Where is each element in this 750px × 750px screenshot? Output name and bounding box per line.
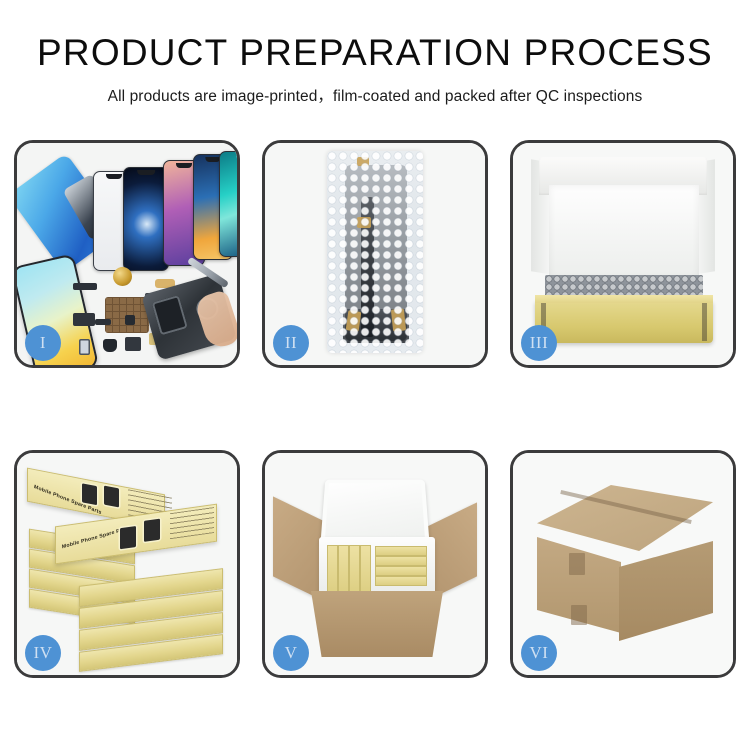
page-title: PRODUCT PREPARATION PROCESS (0, 34, 750, 71)
spare-part (79, 339, 90, 355)
spare-part (73, 313, 95, 326)
box-label-lines (170, 507, 214, 539)
spare-part (73, 283, 97, 290)
spare-part (125, 315, 135, 325)
phone-display-fan (87, 151, 237, 271)
foam-lid (321, 480, 430, 544)
notch-icon (106, 174, 122, 179)
yellow-box-in-carton (375, 556, 427, 566)
yellow-box-in-carton (338, 545, 349, 593)
spare-part (125, 337, 141, 351)
step-panel-6: VI (510, 450, 736, 678)
bubble-wrap-bag (327, 151, 423, 353)
step-panel-1: I (14, 140, 240, 368)
carton-flap-left (273, 496, 325, 601)
yellow-box-in-carton (360, 545, 371, 593)
step-badge-1: I (25, 325, 61, 361)
step-badge-6: VI (521, 635, 557, 671)
notch-icon (137, 170, 155, 175)
yellow-box-in-carton (375, 576, 427, 586)
phone-display-teal (219, 151, 237, 257)
step-badge-2: II (273, 325, 309, 361)
yellow-box-in-carton (375, 546, 427, 556)
product-preparation-infographic: PRODUCT PREPARATION PROCESS All products… (0, 0, 750, 750)
header: PRODUCT PREPARATION PROCESS All products… (0, 0, 750, 106)
yellow-box-in-carton (349, 545, 360, 593)
steps-grid: I II (14, 140, 736, 678)
carton-right-face (619, 541, 713, 641)
bubble-texture (327, 151, 423, 353)
box-label-phone-image (82, 483, 97, 505)
step-panel-4: Mobile Phone Spare Parts Mobile Phone Sp… (14, 450, 240, 678)
step-badge-3: III (521, 325, 557, 361)
box-label-phone-image (104, 486, 119, 508)
step-panel-5: V (262, 450, 488, 678)
yellow-box-base (535, 301, 713, 343)
step-panel-3: III (510, 140, 736, 368)
box-label-phone-image (144, 519, 160, 542)
camera-lens-part (113, 267, 132, 286)
step-badge-4: IV (25, 635, 61, 671)
notch-icon (176, 163, 192, 168)
page-subtitle: All products are image-printed，film-coat… (0, 84, 750, 106)
spare-part (95, 319, 111, 325)
spare-part (103, 339, 117, 352)
foam-pad (549, 185, 699, 279)
step-panel-2: II (262, 140, 488, 368)
carton-tape-mark (571, 605, 587, 625)
yellow-box-in-carton (375, 566, 427, 576)
box-label-phone-image (120, 526, 136, 549)
step-badge-5: V (273, 635, 309, 671)
carton-body (311, 591, 443, 657)
box-corner-edge (702, 303, 707, 341)
carton-tape-mark (569, 553, 585, 575)
foam-liner (319, 537, 435, 599)
yellow-box-in-carton (327, 545, 338, 593)
